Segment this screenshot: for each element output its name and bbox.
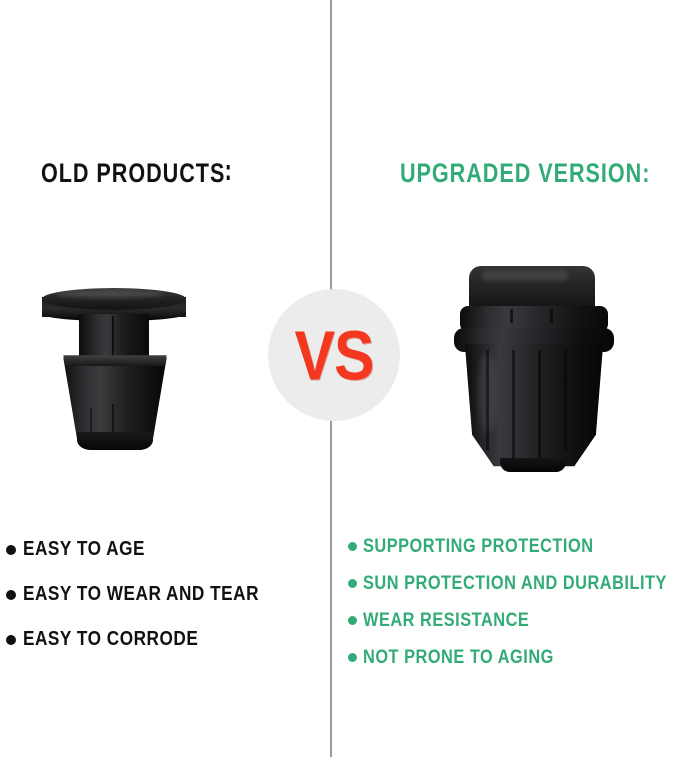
- list-item-label: SUPPORTING PROTECTION: [363, 536, 594, 558]
- upgraded-clip-barrel-foot: [500, 458, 566, 472]
- upgraded-clip-collar-notch: [510, 309, 513, 323]
- list-item-label: EASY TO WEAR AND TEAR: [23, 583, 259, 606]
- comparison-graphic: OLD PRODUCTS∶ EASY TO AGE EASY TO WEAR A…: [0, 0, 679, 757]
- upgraded-version-feature-list: SUPPORTING PROTECTION SUN PROTECTION AND…: [348, 528, 679, 676]
- list-item-label: EASY TO CORRODE: [23, 628, 198, 651]
- bullet-dot-icon: [348, 542, 357, 551]
- bullet-dot-icon: [348, 579, 357, 588]
- old-clip-head-highlight: [56, 291, 164, 298]
- list-item: EASY TO AGE: [6, 527, 297, 572]
- bullet-dot-icon: [348, 653, 357, 662]
- upgraded-clip-flange-highlight: [482, 271, 568, 281]
- old-products-feature-list: EASY TO AGE EASY TO WEAR AND TEAR EASY T…: [6, 527, 297, 662]
- list-item: EASY TO WEAR AND TEAR: [6, 572, 297, 617]
- upgraded-clip-rib: [538, 350, 541, 462]
- versus-label: VS: [294, 320, 373, 390]
- upgraded-clip-rib: [564, 350, 567, 450]
- list-item: NOT PRONE TO AGING: [348, 639, 679, 676]
- old-product-image: [38, 286, 190, 450]
- list-item-label: EASY TO AGE: [23, 538, 145, 561]
- bullet-dot-icon: [6, 545, 16, 555]
- list-item-label: WEAR RESISTANCE: [363, 610, 529, 632]
- upgraded-clip-collar-notch: [550, 309, 553, 323]
- list-item: SUN PROTECTION AND DURABILITY: [348, 565, 679, 602]
- list-item: WEAR RESISTANCE: [348, 602, 679, 639]
- list-item: SUPPORTING PROTECTION: [348, 528, 679, 565]
- upgraded-clip-rib: [486, 350, 489, 450]
- upgraded-clip-rib: [512, 350, 515, 462]
- old-clip-neck: [79, 314, 149, 362]
- list-item-label: SUN PROTECTION AND DURABILITY: [363, 573, 667, 595]
- bullet-dot-icon: [6, 590, 16, 600]
- upgraded-version-heading: UPGRADED VERSION:: [400, 158, 650, 189]
- list-item-label: NOT PRONE TO AGING: [363, 647, 554, 669]
- old-clip-cone-base: [77, 432, 153, 450]
- old-products-heading: OLD PRODUCTS∶: [41, 158, 232, 189]
- list-item: EASY TO CORRODE: [6, 617, 297, 662]
- old-clip-neck-seam: [112, 316, 114, 360]
- bullet-dot-icon: [6, 635, 16, 645]
- upgraded-product-image: [452, 262, 618, 476]
- bullet-dot-icon: [348, 616, 357, 625]
- versus-badge: VS: [268, 289, 400, 421]
- old-clip-cone-lip: [60, 354, 170, 366]
